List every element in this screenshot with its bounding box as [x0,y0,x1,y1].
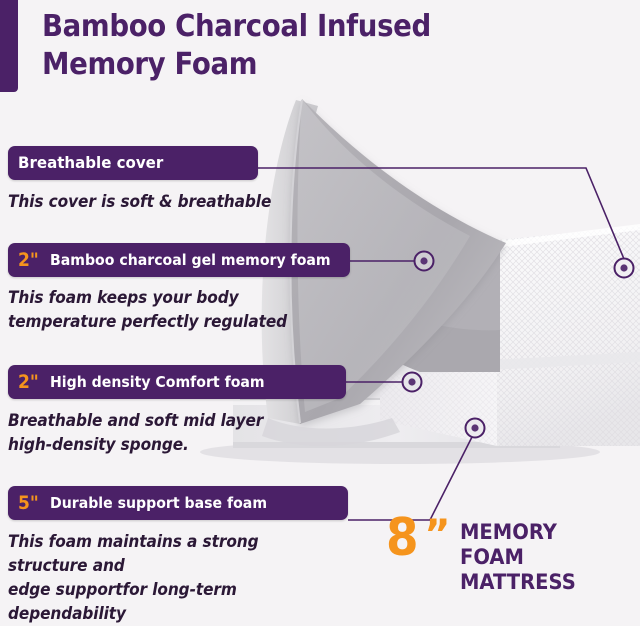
badge-number: 8 [386,516,419,560]
callout-pill-label-comfort: High density Comfort foam [50,375,265,390]
callout-pill-inch-base: 5" [18,494,39,513]
mattress-cover-front-face-weave [497,226,640,446]
badge-text: MEMORY FOAM MATTRESS [460,520,627,595]
page-title: Bamboo Charcoal Infused Memory Foam [42,8,520,84]
callout-description-bamboo-gel: This foam keeps your body temperature pe… [8,286,315,334]
infographic-root: Bamboo Charcoal Infused Memory Foam Brea… [0,0,640,591]
callout-pill-comfort[interactable]: 2" High density Comfort foam [8,365,346,399]
callout-pill-bamboo-gel[interactable]: 2" Bamboo charcoal gel memory foam [8,243,350,277]
title-accent-bar [0,0,18,92]
callout-marker-bamboo-gel [415,252,434,271]
callout-pill-cover[interactable]: Breathable cover [8,146,258,180]
callout-description-base: This foam maintains a strong structure a… [8,530,343,626]
callout-pill-inch-bamboo-gel: 2" [18,251,39,270]
callout-pill-inch-comfort: 2" [18,373,39,392]
callout-marker-comfort [403,373,422,392]
page-title-line1: Bamboo Charcoal Infused [42,9,431,44]
callout-pill-label-cover: Breathable cover [18,155,163,171]
callout-marker-cover [615,259,634,278]
mattress-size-badge: 8 ” MEMORY FOAM MATTRESS [386,516,640,595]
callout-pill-label-base: Durable support base foam [50,496,267,511]
page-title-line2: Memory Foam [42,46,520,84]
callout-pill-base[interactable]: 5" Durable support base foam [8,486,348,520]
callout-description-comfort: Breathable and soft mid layer high-densi… [8,409,315,457]
callout-marker-base [466,419,485,438]
callout-pill-label-bamboo-gel: Bamboo charcoal gel memory foam [50,253,331,268]
callout-description-cover: This cover is soft & breathable [8,190,315,214]
badge-inch-quote: ” [424,516,450,554]
